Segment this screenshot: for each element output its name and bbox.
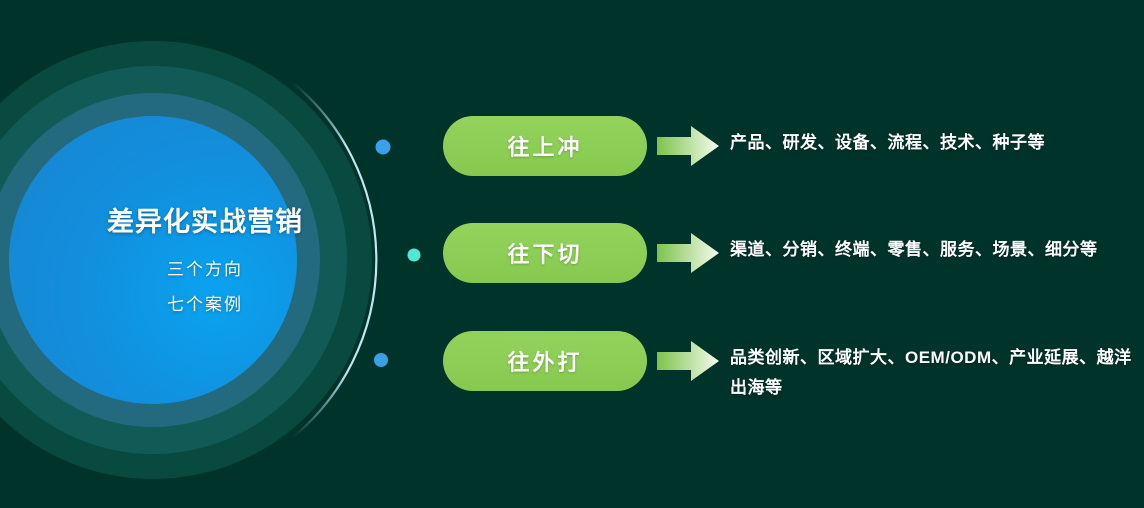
direction-pill-2[interactable]: 往外打	[443, 331, 647, 391]
slide-canvas: 差异化实战营销 三个方向 七个案例 往上冲	[0, 0, 1144, 508]
direction-pill-label: 往外打	[507, 345, 582, 377]
direction-description: 品类创新、区域扩大、OEM/ODM、产业延展、越洋出海等	[730, 331, 1144, 403]
arrow-right-icon	[647, 223, 730, 283]
arrow-right-icon	[647, 116, 730, 176]
orbit-node-1	[376, 140, 391, 155]
direction-pill-0[interactable]: 往上冲	[443, 116, 647, 176]
direction-description: 渠道、分销、终端、零售、服务、场景、细分等	[730, 223, 1144, 265]
hub-core-circle	[9, 116, 297, 404]
direction-pill-label: 往下切	[507, 237, 582, 269]
direction-row: 往外打 品类创新、区域扩大、OEM/ODM、产业延展、越洋出海等	[443, 331, 1144, 391]
orbit-node-2	[408, 249, 421, 262]
direction-description: 产品、研发、设备、流程、技术、种子等	[730, 116, 1144, 158]
direction-pill-1[interactable]: 往下切	[443, 223, 647, 283]
direction-row: 往上冲 产品、研发、设备、流程、技术、种子等	[443, 116, 1144, 176]
arrow-right-icon	[647, 331, 730, 391]
direction-row: 往下切 渠道、分销、终端、零售、服务、场景、细分等	[443, 223, 1144, 283]
orbit-node-3	[374, 353, 388, 367]
direction-pill-label: 往上冲	[507, 130, 582, 162]
